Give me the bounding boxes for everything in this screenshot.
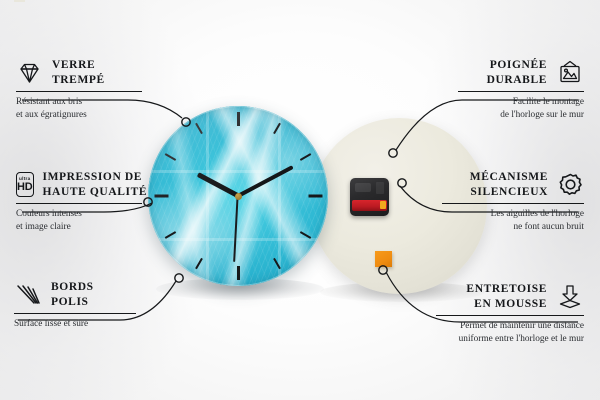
- callout-head: ENTRETOISE EN MOUSSE: [436, 282, 584, 311]
- callout-title-line1: MÉCANISME: [470, 170, 548, 185]
- callout-desc: Facilite le montage de l'horloge sur le …: [458, 96, 584, 122]
- callout-verre-trempe[interactable]: VERRE TREMPÉ Résistant aux bris et aux é…: [16, 58, 142, 122]
- mechanism-hanger-tab: [14, 0, 25, 2]
- callout-title-line1: ENTRETOISE: [466, 282, 547, 297]
- callout-bords-polis[interactable]: BORDS POLIS Surface lisse et sûre: [14, 280, 136, 331]
- clock-face: [148, 106, 328, 286]
- callout-head: VERRE TREMPÉ: [16, 58, 142, 87]
- callout-title-line1: POIGNÉE: [487, 58, 547, 73]
- callout-desc-line1: Surface lisse et sûre: [14, 318, 136, 331]
- callout-desc-line2: et aux égratignures: [16, 109, 142, 122]
- mechanism-battery: [352, 200, 387, 211]
- mechanism-detail-a: [355, 183, 371, 192]
- foam-spacer-icon: [556, 284, 584, 310]
- ultra-hd-icon: ultra HD: [16, 172, 34, 197]
- foam-spacer: [375, 251, 392, 267]
- callout-desc-line1: Résistant aux bris: [16, 96, 142, 109]
- callout-desc-line1: Facilite le montage: [458, 96, 584, 109]
- panel-seam-vertical-left: [206, 106, 209, 286]
- clock-tick-6: [237, 266, 240, 280]
- callout-title-line1: IMPRESSION DE: [43, 170, 148, 185]
- callout-head: BORDS POLIS: [14, 280, 136, 309]
- callout-title-line2: DURABLE: [487, 73, 547, 88]
- callout-head: ultra HD IMPRESSION DE HAUTE QUALITÉ: [16, 170, 142, 199]
- clock-mechanism: [350, 178, 389, 216]
- callout-title-line2: TREMPÉ: [52, 73, 105, 88]
- polished-edges-icon: [14, 283, 42, 307]
- wall-hanger-icon: [556, 60, 584, 86]
- callout-head: MÉCANISME SILENCIEUX: [442, 170, 584, 199]
- callout-title-line2: HAUTE QUALITÉ: [43, 185, 148, 200]
- clock-tick-9: [154, 195, 168, 198]
- callout-title: VERRE TREMPÉ: [52, 58, 105, 87]
- callout-title: BORDS POLIS: [51, 280, 94, 309]
- callout-desc-line2: ne font aucun bruit: [442, 221, 584, 234]
- callout-impression-haute-qualite[interactable]: ultra HD IMPRESSION DE HAUTE QUALITÉ Cou…: [16, 170, 142, 234]
- callout-desc-line1: Les aiguilles de l'horloge: [442, 208, 584, 221]
- callout-title: MÉCANISME SILENCIEUX: [470, 170, 548, 199]
- callout-rule: [16, 203, 142, 204]
- callout-poignee-durable[interactable]: POIGNÉE DURABLE Facilite le montage de l…: [458, 58, 584, 122]
- callout-title-line2: SILENCIEUX: [470, 185, 548, 200]
- callout-desc: Couleurs intenses et image claire: [16, 208, 142, 234]
- callout-desc: Les aiguilles de l'horloge ne font aucun…: [442, 208, 584, 234]
- mechanism-detail-b: [376, 182, 384, 194]
- ultra-hd-icon-main-text: HD: [17, 182, 33, 193]
- callout-rule: [14, 313, 136, 314]
- panel-seam-horizontal-top: [148, 170, 328, 173]
- callout-desc-line2: et image claire: [16, 221, 142, 234]
- callout-rule: [458, 91, 584, 92]
- hands-center-cap: [235, 193, 242, 200]
- callout-title-line1: BORDS: [51, 280, 94, 295]
- clock-tick-0: [237, 112, 240, 126]
- callout-desc: Surface lisse et sûre: [14, 318, 136, 331]
- infographic-canvas: VERRE TREMPÉ Résistant aux bris et aux é…: [0, 0, 600, 400]
- callout-entretoise-en-mousse[interactable]: ENTRETOISE EN MOUSSE Permet de maintenir…: [436, 282, 584, 346]
- callout-rule: [16, 91, 142, 92]
- gear-icon: [557, 172, 584, 198]
- panel-seam-vertical-right: [278, 106, 281, 286]
- callout-desc: Résistant aux bris et aux égratignures: [16, 96, 142, 122]
- clock-tick-3: [308, 195, 322, 198]
- callout-desc-line1: Couleurs intenses: [16, 208, 142, 221]
- callout-title: IMPRESSION DE HAUTE QUALITÉ: [43, 170, 148, 199]
- callout-head: POIGNÉE DURABLE: [458, 58, 584, 87]
- callout-desc: Permet de maintenir une distance uniform…: [436, 320, 584, 346]
- callout-rule: [436, 315, 584, 316]
- diamond-icon: [16, 61, 43, 85]
- callout-desc-line2: uniforme entre l'horloge et le mur: [436, 333, 584, 346]
- callout-rule: [442, 203, 584, 204]
- callout-title-line1: VERRE: [52, 58, 105, 73]
- panel-seam-horizontal-bottom: [148, 238, 328, 241]
- callout-desc-line1: Permet de maintenir une distance: [436, 320, 584, 333]
- callout-mecanisme-silencieux[interactable]: MÉCANISME SILENCIEUX Les aiguilles de l'…: [442, 170, 584, 234]
- callout-desc-line2: de l'horloge sur le mur: [458, 109, 584, 122]
- callout-title-line2: POLIS: [51, 295, 94, 310]
- callout-title: POIGNÉE DURABLE: [487, 58, 547, 87]
- callout-title-line2: EN MOUSSE: [466, 297, 547, 312]
- callout-title: ENTRETOISE EN MOUSSE: [466, 282, 547, 311]
